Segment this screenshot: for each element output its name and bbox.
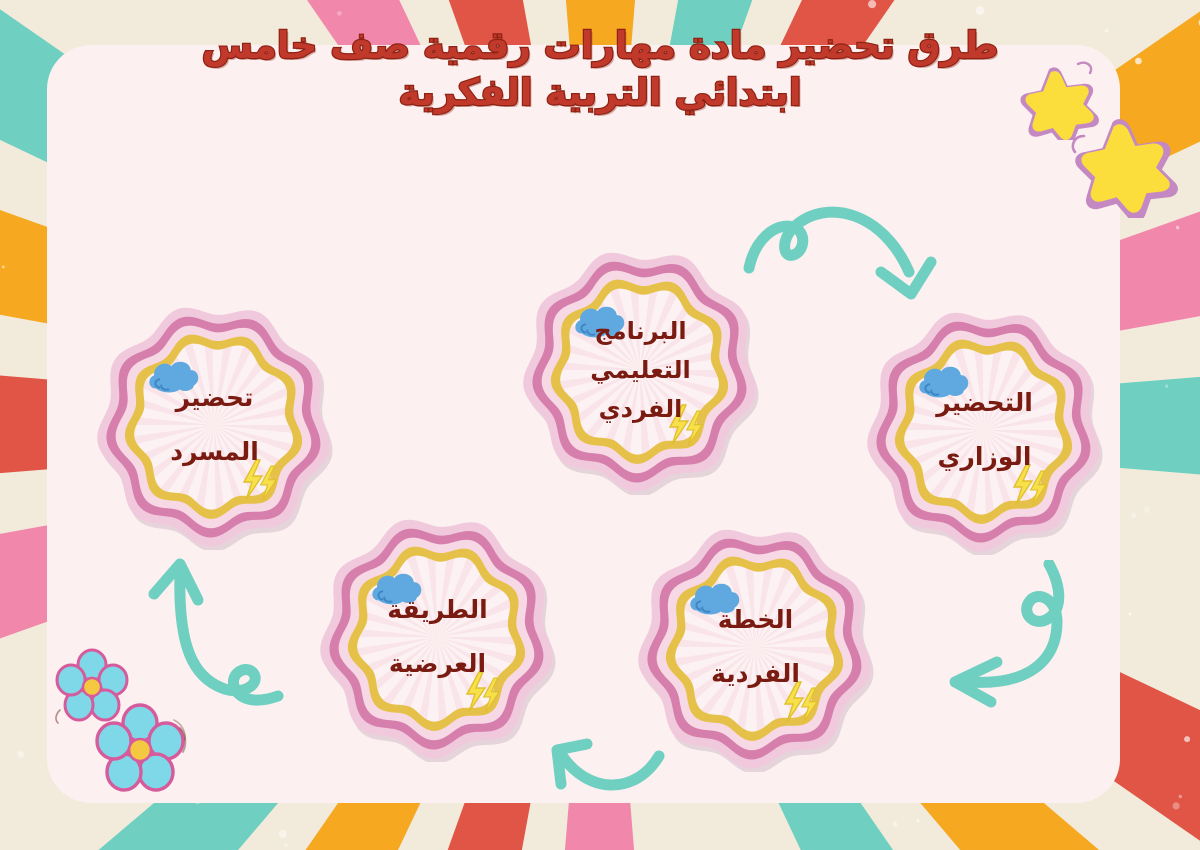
badge-line-1: الخطة [718,593,794,647]
badge-label: تحضير المسرد [92,300,337,550]
badge-line-1: الطريقة [387,583,487,637]
badge-label: الخطة الفردية [633,522,878,772]
badge-line-1: البرنامج [594,312,686,351]
page-title: طرق تحضير مادة مهارات رقمية صف خامس ابتد… [0,22,1200,116]
badge-altariqa-alardiyya[interactable]: الطريقة العرضية [315,512,560,762]
badge-line-2: التعليمي [590,351,691,390]
badge-line-1: تحضير [176,371,254,425]
title-line-2: ابتدائي التربية الفكرية [0,69,1200,116]
badge-label: التحضير الوزاري [862,305,1107,555]
title-line-1: طرق تحضير مادة مهارات رقمية صف خامس [0,22,1200,69]
badge-altahdeer-alwizari[interactable]: التحضير الوزاري [862,305,1107,555]
badge-line-2: المسرد [170,425,259,479]
badge-line-1: التحضير [936,376,1033,430]
badge-label: الطريقة العرضية [315,512,560,762]
badge-label: البرنامج التعليمي الفردي [518,245,763,495]
badge-line-3: الفردي [599,390,683,429]
badge-albarnamaj-altaalimi-alfardi[interactable]: البرنامج التعليمي الفردي [518,245,763,495]
badge-line-2: العرضية [389,637,486,691]
badge-line-2: الفردية [711,647,800,701]
badge-tahdeer-almasrad[interactable]: تحضير المسرد [92,300,337,550]
badge-line-2: الوزاري [938,430,1032,484]
badge-alkhitta-alfardiyya[interactable]: الخطة الفردية [633,522,878,772]
